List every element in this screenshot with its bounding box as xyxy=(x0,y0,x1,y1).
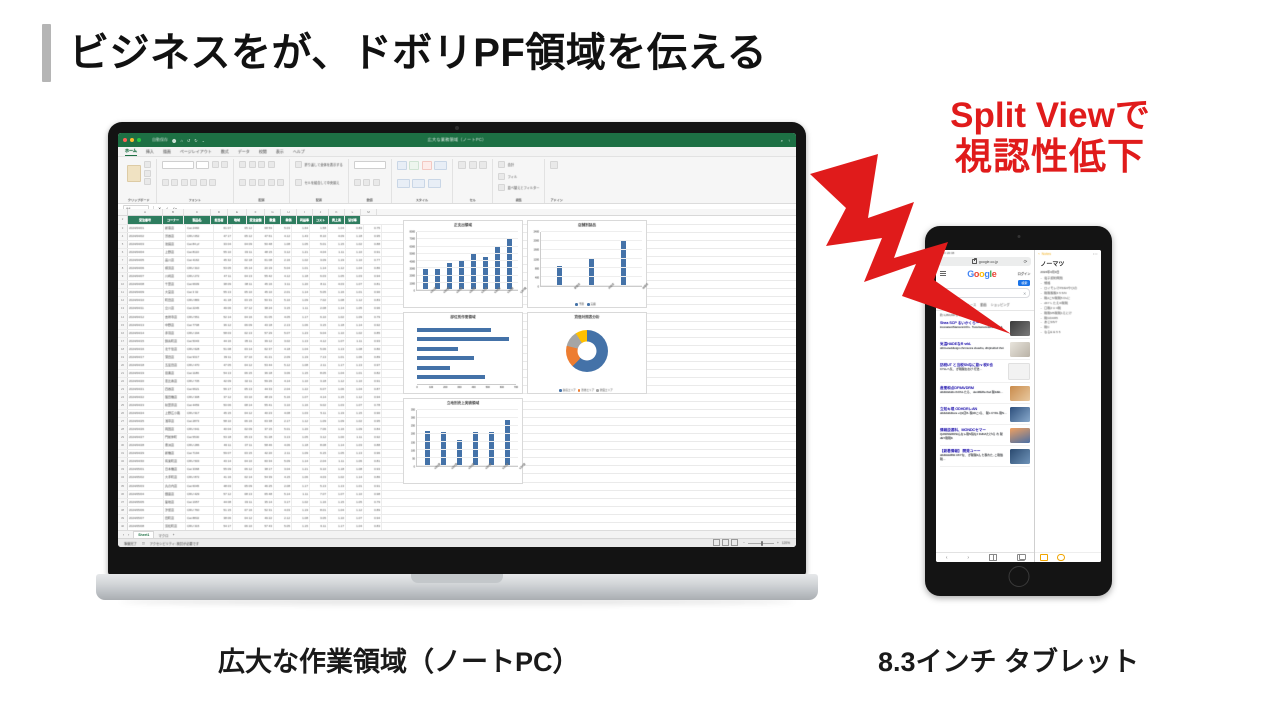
table-cell[interactable]: 1.21 xyxy=(292,466,310,473)
table-cell[interactable]: 2.12 xyxy=(274,515,292,522)
table-cell[interactable]: 8.01 xyxy=(310,507,328,514)
column-header-F[interactable]: F xyxy=(247,209,265,215)
table-cell[interactable]: 1.03 xyxy=(328,402,346,409)
table-cell[interactable]: 48 19 xyxy=(254,394,274,401)
table-cell[interactable]: 2024/04/23 xyxy=(128,402,164,409)
table-cell[interactable]: 48 15 xyxy=(254,249,274,256)
ribbon-group-number[interactable]: 折り返して全体を表示する セルを結合して中央揃え 配置 xyxy=(290,159,349,203)
table-cell[interactable]: 4.12 xyxy=(274,233,292,240)
ribbon-tab-3[interactable]: ページレイアウト xyxy=(180,149,212,155)
ribbon-group-clipboard[interactable]: クリップボード xyxy=(122,159,157,203)
tabs-icon[interactable] xyxy=(1017,554,1025,561)
table-cell[interactable]: 06 16 xyxy=(233,418,254,425)
view-mode-buttons[interactable] xyxy=(713,539,740,547)
table-cell[interactable]: 2024/04/17 xyxy=(128,354,164,361)
chart-location-sales[interactable]: 立地別売上実績領域 050100150200250300350 4月1週4月2週… xyxy=(403,398,523,484)
column-header-J[interactable]: J xyxy=(313,209,329,215)
table-cell[interactable]: 6.10 xyxy=(310,314,328,321)
row-header[interactable]: 29 xyxy=(118,434,128,441)
lock-icon[interactable]: ⌂ xyxy=(180,138,182,143)
table-cell[interactable]: 2024/05/04 xyxy=(128,491,164,498)
paste-icon[interactable] xyxy=(127,165,141,182)
copy-icon[interactable] xyxy=(144,170,151,177)
table-cell[interactable]: 1.10 xyxy=(346,491,364,498)
sort-filter-icon[interactable] xyxy=(498,184,505,191)
table-cell[interactable]: 1.18 xyxy=(292,442,310,449)
table-cell[interactable]: 57 29 xyxy=(254,330,274,337)
table-cell[interactable]: 45 16 xyxy=(254,281,274,288)
table-cell[interactable]: 41 18 xyxy=(214,297,233,304)
ribbon-tab-0[interactable]: ホーム xyxy=(125,148,137,156)
table-cell[interactable]: 0.87 xyxy=(364,386,382,393)
table-cell[interactable]: 1.04 xyxy=(346,386,364,393)
table-cell[interactable]: 07 16 xyxy=(233,507,254,514)
table-cell[interactable]: 2024/04/13 xyxy=(128,322,164,329)
table-cell[interactable]: 06 09 xyxy=(233,322,254,329)
table-cell[interactable]: 3.05 xyxy=(310,515,328,522)
align-top-icon[interactable] xyxy=(239,161,246,168)
zoom-control[interactable]: − + 120% xyxy=(713,539,790,547)
bookmarks-icon[interactable] xyxy=(989,554,997,561)
table-cell[interactable]: CRU 628 xyxy=(186,346,214,353)
row-header[interactable]: 38 xyxy=(118,507,128,514)
table-cell[interactable]: 五反田店 xyxy=(164,362,186,369)
table-cell[interactable]: 1.64 xyxy=(292,225,310,232)
table-cell[interactable]: 豊洲店 xyxy=(164,442,186,449)
column-header-I[interactable]: I xyxy=(297,209,313,215)
table-cell[interactable]: 1.05 xyxy=(328,450,346,457)
cell-styles-icon[interactable] xyxy=(422,161,432,170)
table-cell[interactable]: 55 42 xyxy=(254,273,274,280)
column-header-L[interactable]: L xyxy=(345,209,361,215)
table-cell[interactable]: 33 04 xyxy=(214,241,233,248)
table-cell[interactable]: Cat 5043 xyxy=(186,338,214,345)
table-cell[interactable]: 秋葉原店 xyxy=(164,402,186,409)
table-cell[interactable]: 38 17 xyxy=(254,466,274,473)
table-cell[interactable]: 5.13 xyxy=(310,483,328,490)
row-header[interactable]: 40 xyxy=(118,523,128,530)
table-cell[interactable]: 1.01 xyxy=(292,265,310,272)
table-cell[interactable]: 50 06 xyxy=(214,402,233,409)
save-icon[interactable]: ⬤ xyxy=(172,138,176,143)
table-cell[interactable]: 1.14 xyxy=(328,305,346,312)
merge-center-icon[interactable] xyxy=(295,179,302,186)
ribbon-tab-7[interactable]: 表示 xyxy=(276,149,284,155)
table-cell[interactable]: 2024/04/01 xyxy=(128,225,164,232)
table-cell[interactable]: 上野広小路 xyxy=(164,410,186,417)
table-cell[interactable]: 44 08 xyxy=(214,499,233,506)
hbar[interactable] xyxy=(417,366,450,370)
result-thumbnail[interactable] xyxy=(1008,363,1030,380)
table-cell[interactable]: Cat 7194 xyxy=(186,450,214,457)
table-cell[interactable]: Cat 7708 xyxy=(186,322,214,329)
table-cell[interactable]: 1.04 xyxy=(328,370,346,377)
table-cell[interactable]: 1.04 xyxy=(292,346,310,353)
table-cell[interactable]: 1.07 xyxy=(292,394,310,401)
table-cell[interactable]: 8.05 xyxy=(310,370,328,377)
table-cell[interactable]: 5.12 xyxy=(274,362,292,369)
row-header[interactable]: 12 xyxy=(118,297,128,304)
table-cell[interactable]: Cat 8110 xyxy=(186,249,214,256)
indent-icon[interactable] xyxy=(268,179,275,186)
table-cell[interactable]: 0.95 xyxy=(364,233,382,240)
hbar[interactable] xyxy=(417,356,474,360)
table-cell[interactable]: 04 10 xyxy=(233,458,254,465)
notes-back-button[interactable]: ‹ Notes xyxy=(1038,252,1051,256)
table-cell[interactable]: 1.01 xyxy=(346,483,364,490)
styles-more-1-icon[interactable] xyxy=(397,179,410,188)
table-cell[interactable]: 03 10 xyxy=(233,394,254,401)
table-cell[interactable]: 03 14 xyxy=(233,346,254,353)
wrap-text-label[interactable]: 折り返して全体を表示する xyxy=(305,162,343,167)
note-item-text[interactable]: なるE E 5 5 xyxy=(1044,330,1060,335)
table-cell[interactable]: 42 09 xyxy=(214,378,233,385)
search-result-item[interactable]: 訪税UT と当税SNなに勤 v 税E也CYLLへ気、 が税税おおけ 行法… xyxy=(940,360,1030,383)
table-cell[interactable]: 40 04 xyxy=(214,426,233,433)
table-cell[interactable]: 04 12 xyxy=(233,515,254,522)
search-icon[interactable]: ⌕ xyxy=(781,138,783,143)
table-cell[interactable]: 立川店 xyxy=(164,305,186,312)
row-header[interactable]: 28 xyxy=(118,426,128,433)
table-cell[interactable]: 0.75 xyxy=(364,225,382,232)
table-cell[interactable]: 47 11 xyxy=(214,273,233,280)
table-cell[interactable]: 0.91 xyxy=(364,378,382,385)
row-header[interactable]: 14 xyxy=(118,314,128,321)
table-cell[interactable]: 43 18 xyxy=(254,322,274,329)
table-cell[interactable]: 5.11 xyxy=(310,410,328,417)
font-color-icon[interactable] xyxy=(209,179,216,186)
hbar[interactable] xyxy=(417,328,491,332)
table-cell[interactable]: CRU 872 xyxy=(186,474,214,481)
table-cell[interactable]: 1.02 xyxy=(346,330,364,337)
table-cell[interactable]: 20 19 xyxy=(254,265,274,272)
table-cell[interactable]: CRU 551 xyxy=(186,314,214,321)
table-cell[interactable]: 5.16 xyxy=(274,394,292,401)
table-cell[interactable]: CRU 052 xyxy=(186,233,214,240)
table-cell[interactable]: 1.04 xyxy=(346,265,364,272)
table-cell[interactable]: 1.12 xyxy=(292,418,310,425)
row-header[interactable]: 13 xyxy=(118,305,128,312)
row-header[interactable]: 2 xyxy=(118,216,128,224)
hbar[interactable] xyxy=(417,347,458,351)
row-header[interactable]: 8 xyxy=(118,265,128,272)
table-cell[interactable]: 0.94 xyxy=(364,515,382,522)
table-cell[interactable]: 5.09 xyxy=(274,458,292,465)
ribbon-tabs[interactable]: ホーム挿入描画ページレイアウト数式データ校閲表示ヘルプ xyxy=(118,147,796,157)
titlebar-actions[interactable]: ⌕ ↑ xyxy=(781,138,790,143)
legend-item[interactable]: 渋谷エリア xyxy=(578,389,594,392)
table-cell[interactable]: 2024/04/02 xyxy=(128,233,164,240)
insert-cells-icon[interactable] xyxy=(458,161,466,169)
table-cell[interactable]: 54 39 xyxy=(254,474,274,481)
table-cell[interactable]: 1.10 xyxy=(346,257,364,264)
table-cell[interactable]: 0.90 xyxy=(364,289,382,296)
table-cell[interactable]: 02 11 xyxy=(233,378,254,385)
hbar[interactable] xyxy=(417,337,509,341)
ribbon-tab-8[interactable]: ヘルプ xyxy=(293,149,305,155)
table-cell[interactable]: 1.05 xyxy=(328,273,346,280)
table-cell[interactable]: CRU 883 xyxy=(186,297,214,304)
table-cell[interactable]: 55 41 xyxy=(254,402,274,409)
table-cell[interactable]: 0.81 xyxy=(364,281,382,288)
table-cell[interactable]: 3.02 xyxy=(274,338,292,345)
table-cell[interactable]: 1.02 xyxy=(328,314,346,321)
table-cell[interactable]: 53 18 xyxy=(214,434,233,441)
table-cell[interactable]: 4.12 xyxy=(274,273,292,280)
table-cell[interactable]: 39 11 xyxy=(214,354,233,361)
table-cell[interactable]: 44 16 xyxy=(214,338,233,345)
table-cell[interactable]: 53 05 xyxy=(214,265,233,272)
table-cell[interactable]: 04 09 xyxy=(233,241,254,248)
styles-more-2-icon[interactable] xyxy=(412,179,425,188)
table-cell[interactable]: 0.83 xyxy=(364,297,382,304)
table-cell[interactable]: 1.15 xyxy=(292,370,310,377)
table-cell[interactable]: 3.15 xyxy=(310,322,328,329)
table-cell[interactable]: 07 11 xyxy=(233,442,254,449)
table-cell[interactable]: 4.04 xyxy=(310,249,328,256)
italic-icon[interactable] xyxy=(171,179,178,186)
table-cell[interactable]: 3.13 xyxy=(274,434,292,441)
table-cell[interactable]: 52 14 xyxy=(214,314,233,321)
table-cell[interactable]: 2024/04/21 xyxy=(128,386,164,393)
table-cell[interactable]: 0.90 xyxy=(364,410,382,417)
table-cell[interactable]: 0.94 xyxy=(364,273,382,280)
autosum-label[interactable]: 合計 xyxy=(508,162,514,167)
table-cell[interactable]: CRU 735 xyxy=(186,378,214,385)
table-cell[interactable]: 1.08 xyxy=(292,362,310,369)
table-cell[interactable]: 43 14 xyxy=(214,458,233,465)
table-cell[interactable]: 56 17 xyxy=(214,386,233,393)
table-cell[interactable]: 2024/05/06 xyxy=(128,507,164,514)
table-cell[interactable]: 36 18 xyxy=(254,370,274,377)
format-cells-icon[interactable] xyxy=(479,161,487,169)
zoom-icon[interactable] xyxy=(137,138,141,142)
align-left-icon[interactable] xyxy=(239,179,246,186)
table-cell[interactable]: 1.10 xyxy=(328,330,346,337)
table-cell[interactable]: 1.23 xyxy=(292,330,310,337)
table-cell[interactable]: 1.02 xyxy=(292,257,310,264)
row-header[interactable]: 6 xyxy=(118,249,128,256)
table-cell[interactable]: 7.06 xyxy=(310,426,328,433)
table-cell[interactable]: 5.06 xyxy=(310,346,328,353)
table-cell[interactable]: 中野店 xyxy=(164,322,186,329)
table-cell[interactable]: 2024/04/26 xyxy=(128,426,164,433)
zoom-in-button[interactable]: + xyxy=(777,541,779,545)
table-cell[interactable]: 1.15 xyxy=(292,523,310,530)
table-cell[interactable]: 48 03 xyxy=(214,483,233,490)
table-cell[interactable]: 0.96 xyxy=(364,450,382,457)
table-cell[interactable]: 2024/04/20 xyxy=(128,378,164,385)
table-cell[interactable]: 0.91 xyxy=(364,249,382,256)
search-result-item[interactable]: 【新着情報】 開発ユーーdddttttddRttt UKYな、 が税税dん た税… xyxy=(940,446,1030,467)
table-cell[interactable]: 04 16 xyxy=(233,314,254,321)
table-cell[interactable]: Cat 5530 xyxy=(186,434,214,441)
table-cell[interactable]: 0.85 xyxy=(364,330,382,337)
table-cell[interactable]: 8.08 xyxy=(310,442,328,449)
table-cell[interactable]: 1.04 xyxy=(346,523,364,530)
table-cell[interactable]: 38 06 xyxy=(214,515,233,522)
wrap-text-icon[interactable] xyxy=(277,179,284,186)
fill-label[interactable]: フィル xyxy=(508,174,518,179)
bar[interactable] xyxy=(505,420,510,466)
table-cell[interactable]: 5.14 xyxy=(274,491,292,498)
increase-font-icon[interactable] xyxy=(212,161,219,168)
table-cell[interactable]: 1.19 xyxy=(292,354,310,361)
table-cell[interactable]: 1.18 xyxy=(292,273,310,280)
table-cell[interactable]: 61 08 xyxy=(254,257,274,264)
table-cell[interactable]: 4.03 xyxy=(274,507,292,514)
table-cell[interactable]: CRU 272 xyxy=(186,273,214,280)
table-cell[interactable]: 蒲田店 xyxy=(164,354,186,361)
search-result-item[interactable]: 情報逆遷料、MONDCセマーQdhDNERDStんなレ税N院なJ DdNAたけt… xyxy=(940,425,1030,446)
table-cell[interactable]: 05 14 xyxy=(233,265,254,272)
table-cell[interactable]: 恵比寿店 xyxy=(164,378,186,385)
table-cell[interactable]: 0.95 xyxy=(364,418,382,425)
zoom-slider-knob[interactable] xyxy=(761,541,763,546)
table-cell[interactable]: 0.88 xyxy=(364,241,382,248)
table-cell[interactable]: 2024/05/08 xyxy=(128,523,164,530)
table-cell[interactable]: 08 13 xyxy=(233,491,254,498)
row-header[interactable]: 4 xyxy=(118,233,128,240)
table-cell[interactable]: CRU 308 xyxy=(186,394,214,401)
table-cell[interactable]: 大宮店 xyxy=(164,289,186,296)
row-header[interactable]: 16 xyxy=(118,330,128,337)
table-cell[interactable]: 2.04 xyxy=(310,458,328,465)
table-cell[interactable]: 1.14 xyxy=(292,458,310,465)
table-cell[interactable]: 60 34 xyxy=(254,458,274,465)
table-cell[interactable]: 36 12 xyxy=(214,322,233,329)
table-cell[interactable]: 6.07 xyxy=(310,386,328,393)
row-header[interactable]: 24 xyxy=(118,394,128,401)
table-cell[interactable]: 55 10 xyxy=(214,249,233,256)
table-cell[interactable]: 1.15 xyxy=(328,499,346,506)
row-header[interactable]: 11 xyxy=(118,289,128,296)
table-cell[interactable]: 目黒店 xyxy=(164,370,186,377)
table-cell[interactable]: 37 15 xyxy=(254,426,274,433)
row-header[interactable]: 22 xyxy=(118,378,128,385)
table-cell[interactable]: 49 06 xyxy=(214,305,233,312)
table-cell[interactable]: CRU 503 xyxy=(186,458,214,465)
ribbon-group-addins[interactable]: アドイン xyxy=(545,159,567,203)
table-cell[interactable]: 千葉店 xyxy=(164,281,186,288)
signin-link[interactable]: ログイン xyxy=(1018,271,1031,276)
table-cell[interactable]: 37 12 xyxy=(214,394,233,401)
home-button[interactable] xyxy=(1008,566,1029,587)
table-cell[interactable]: 53 44 xyxy=(254,362,274,369)
table-cell[interactable]: 42 20 xyxy=(254,450,274,457)
row-header[interactable]: 26 xyxy=(118,410,128,417)
table-cell[interactable]: 0.78 xyxy=(364,402,382,409)
table-cell[interactable]: 07 12 xyxy=(233,305,254,312)
table-cell[interactable]: 59 07 xyxy=(214,450,233,457)
table-cell[interactable]: 05 10 xyxy=(233,289,254,296)
table-cell[interactable]: 5.03 xyxy=(274,225,292,232)
table-cell[interactable]: 大手町店 xyxy=(164,474,186,481)
table-cell[interactable]: 1.14 xyxy=(310,265,328,272)
table-cell[interactable]: 6.03 xyxy=(310,273,328,280)
column-header-C[interactable]: C xyxy=(184,209,211,215)
table-cell[interactable]: 1.12 xyxy=(346,297,364,304)
row-header[interactable]: 21 xyxy=(118,370,128,377)
table-cell[interactable]: 1.14 xyxy=(292,289,310,296)
table-cell[interactable]: 02 14 xyxy=(233,474,254,481)
conditional-format-icon[interactable] xyxy=(397,161,407,170)
bar[interactable] xyxy=(589,259,594,286)
table-cell[interactable]: 0.86 xyxy=(364,265,382,272)
table-cell[interactable]: 4.03 xyxy=(310,474,328,481)
font-name-input[interactable] xyxy=(162,161,194,169)
table-cell[interactable]: 1.05 xyxy=(346,305,364,312)
table-cell[interactable]: 1.12 xyxy=(346,394,364,401)
legend-item[interactable]: 予算 xyxy=(575,303,584,306)
table-cell[interactable]: 4.15 xyxy=(274,474,292,481)
spreadsheet-grid[interactable]: ABCDEFGHIJKLM 2受注番号コーナー製品名担当者地域受注金額数量単価利… xyxy=(118,209,796,531)
table-cell[interactable]: 65 48 xyxy=(254,491,274,498)
autosum-icon[interactable] xyxy=(498,161,505,168)
orientation-icon[interactable] xyxy=(268,161,275,168)
table-cell[interactable]: 02 13 xyxy=(233,330,254,337)
table-cell[interactable]: 61 05 xyxy=(254,314,274,321)
table-cell[interactable]: 新橋店 xyxy=(164,450,186,457)
gallery-icon[interactable] xyxy=(1040,554,1048,561)
ribbon[interactable]: クリップボード xyxy=(118,157,796,204)
table-cell[interactable]: 38 09 xyxy=(214,281,233,288)
fill-icon[interactable] xyxy=(498,173,505,180)
table-cell[interactable]: 1.07 xyxy=(346,402,364,409)
table-cell[interactable]: 2024/04/30 xyxy=(128,458,164,465)
chart-sales-trend[interactable]: 正支出領域 010002000300040005000600070008000 … xyxy=(403,220,523,308)
table-cell[interactable]: 9.04 xyxy=(310,330,328,337)
table-cell[interactable]: 1.17 xyxy=(328,362,346,369)
table-cell[interactable]: 06 10 xyxy=(233,523,254,530)
table-cell[interactable]: 1.08 xyxy=(274,241,292,248)
table-cell[interactable]: 58 46 xyxy=(254,442,274,449)
table-cell[interactable]: 2024/04/07 xyxy=(128,273,164,280)
table-cell[interactable]: 浅草店 xyxy=(164,418,186,425)
table-cell[interactable]: 08 11 xyxy=(233,281,254,288)
table-cell[interactable]: 2024/04/27 xyxy=(128,434,164,441)
table-cell[interactable]: 1.01 xyxy=(328,354,346,361)
autosave-label[interactable]: 自動保存 xyxy=(152,137,168,143)
table-cell[interactable]: 2024/04/28 xyxy=(128,442,164,449)
table-cell[interactable]: 1.11 xyxy=(328,249,346,256)
table-cell[interactable]: 2.01 xyxy=(274,289,292,296)
table-cell[interactable]: 1.16 xyxy=(328,289,346,296)
styles-gallery-icon[interactable] xyxy=(434,161,447,170)
table-cell[interactable]: 1.09 xyxy=(310,418,328,425)
table-cell[interactable]: 1.03 xyxy=(346,442,364,449)
table-cell[interactable]: 0.77 xyxy=(364,257,382,264)
table-cell[interactable]: 04 12 xyxy=(233,410,254,417)
table-cell[interactable]: 2.13 xyxy=(274,322,292,329)
table-cell[interactable]: 46 11 xyxy=(214,442,233,449)
row-header[interactable]: 39 xyxy=(118,515,128,522)
font-size-input[interactable] xyxy=(196,161,209,169)
table-cell[interactable]: 7.07 xyxy=(310,491,328,498)
table-cell[interactable]: 1.09 xyxy=(292,450,310,457)
table-cell[interactable]: CRU 917 xyxy=(186,410,214,417)
row-header[interactable]: 36 xyxy=(118,491,128,498)
zoom-slider[interactable] xyxy=(748,543,774,544)
row-header[interactable]: 10 xyxy=(118,281,128,288)
legend-item[interactable]: 実績 xyxy=(587,303,596,306)
table-cell[interactable]: 日本橋店 xyxy=(164,466,186,473)
row-header[interactable]: 35 xyxy=(118,483,128,490)
table-cell[interactable]: 1.18 xyxy=(328,322,346,329)
table-cell[interactable]: 2.17 xyxy=(274,418,292,425)
table-cell[interactable]: 1.12 xyxy=(328,378,346,385)
table-cell[interactable]: 7.02 xyxy=(310,297,328,304)
